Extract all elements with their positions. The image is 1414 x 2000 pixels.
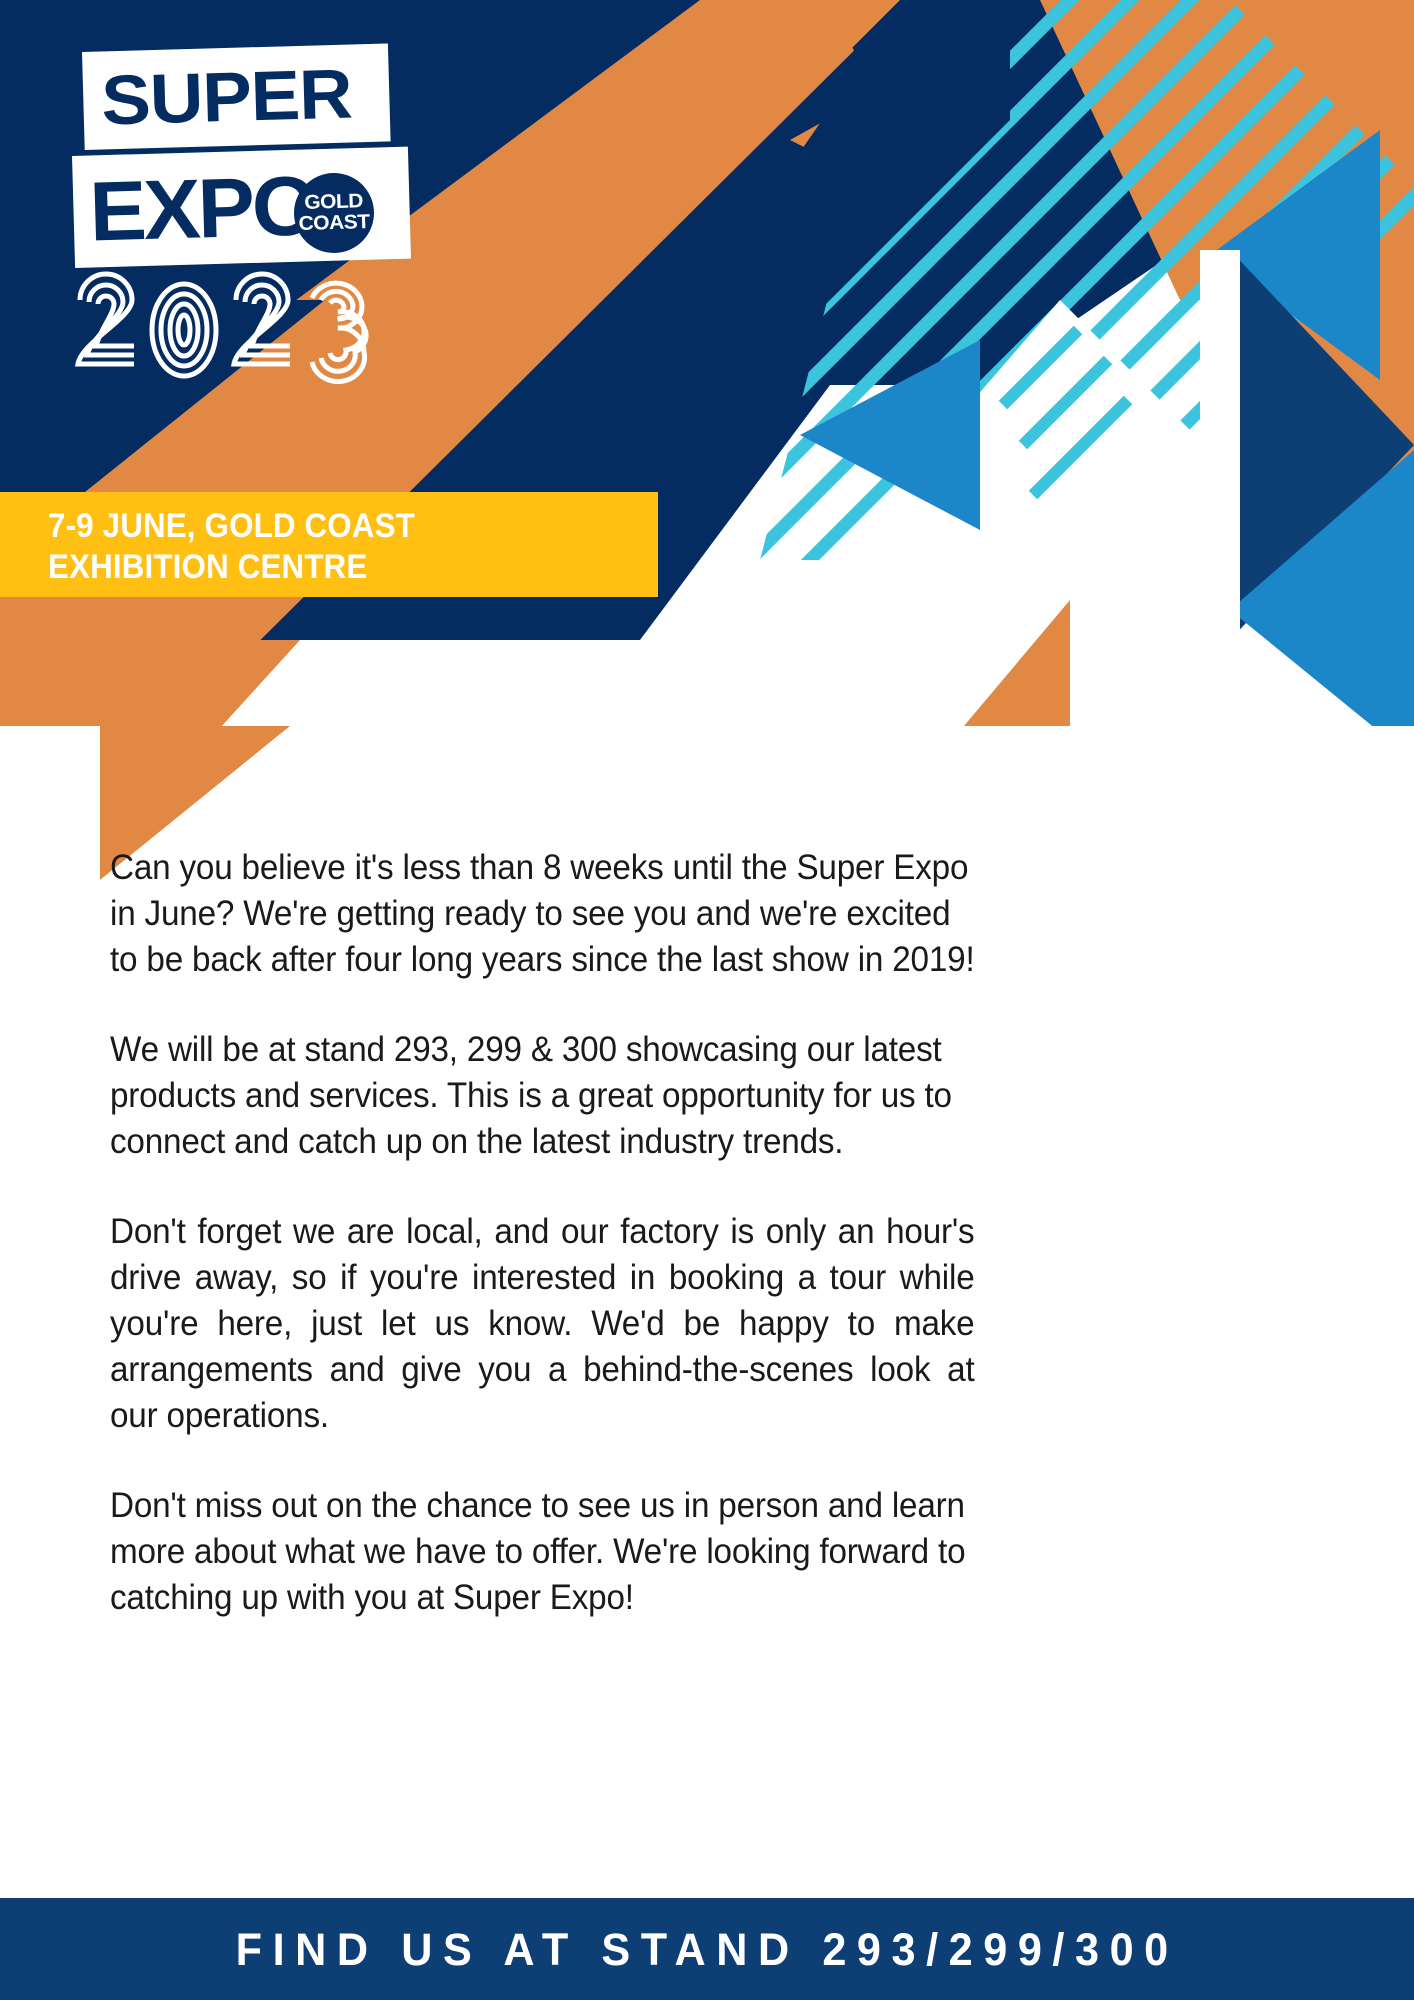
paragraph-1: Can you believe it's less than 8 weeks u… bbox=[110, 845, 975, 983]
logo-word-expo: EXPO bbox=[88, 163, 316, 253]
hero-banner: SUPER EXPO GOLD COAST bbox=[0, 0, 1414, 900]
footer-stand-text: FIND US AT STAND 293/299/300 bbox=[235, 1927, 1178, 1972]
logo-plate-super: SUPER bbox=[82, 43, 391, 150]
body-copy: Can you believe it's less than 8 weeks u… bbox=[110, 845, 1020, 1665]
date-line-2: EXHIBITION CENTRE bbox=[48, 547, 609, 588]
footer-stand-banner: FIND US AT STAND 293/299/300 bbox=[0, 1898, 1414, 2000]
white-wedge-right bbox=[1200, 250, 1240, 660]
paragraph-2: We will be at stand 293, 299 & 300 showc… bbox=[110, 1027, 975, 1165]
date-venue-banner: 7-9 JUNE, GOLD COAST EXHIBITION CENTRE bbox=[0, 492, 658, 597]
logo-word-super: SUPER bbox=[100, 59, 352, 136]
badge-line-coast: COAST bbox=[299, 212, 370, 235]
paragraph-3: Don't forget we are local, and our facto… bbox=[110, 1209, 975, 1439]
date-line-1: 7-9 JUNE, GOLD COAST bbox=[48, 506, 609, 547]
paragraph-4: Don't miss out on the chance to see us i… bbox=[110, 1483, 975, 1621]
logo-year-2023 bbox=[68, 260, 468, 390]
super-expo-logo: SUPER EXPO GOLD COAST bbox=[58, 52, 478, 362]
